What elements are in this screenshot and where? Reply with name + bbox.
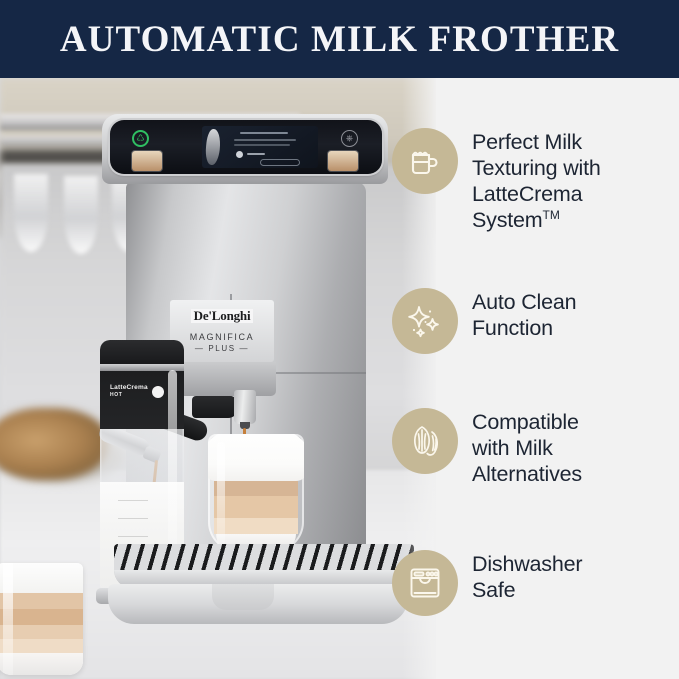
- brewing-cup: [208, 434, 304, 552]
- feature-text: Compatible with Milk Alternatives: [472, 408, 582, 487]
- dispenser-head: [170, 362, 276, 396]
- feature-line: LatteCrema: [472, 182, 582, 206]
- display-bullet-dot: [236, 151, 243, 158]
- display-text-line: [247, 153, 265, 155]
- cup-coffee-layer: [214, 496, 298, 518]
- carafe-label-main: LatteCrema: [110, 384, 148, 391]
- carafe-label-sub: HOT: [110, 392, 148, 398]
- leaf-eco-icon: ♺: [132, 130, 149, 147]
- header-banner: AUTOMATIC MILK FROTHER: [0, 0, 679, 78]
- feature-line: Alternatives: [472, 462, 582, 486]
- display-text-line: [234, 144, 290, 146]
- dishwasher-icon: [392, 550, 458, 616]
- carafe-dial-icon[interactable]: [152, 386, 164, 398]
- almonds-icon: [392, 408, 458, 474]
- product-photo: ♺ ⎈ De'Longhi MAGNIFICA — PLUS —: [0, 78, 436, 679]
- trademark-mark: TM: [542, 208, 559, 222]
- display-text-line: [234, 139, 296, 141]
- display-text-line: [240, 132, 288, 134]
- page-title: AUTOMATIC MILK FROTHER: [60, 21, 619, 58]
- background-wine-glass: [14, 174, 48, 252]
- latte-macchiato-glass: [0, 563, 83, 675]
- display-option-pill[interactable]: [260, 159, 300, 166]
- model-variant: — PLUS —: [195, 344, 249, 353]
- feature-line: Safe: [472, 578, 515, 602]
- milk-nozzle-housing: [192, 396, 238, 418]
- drip-tray-notch: [212, 584, 274, 610]
- feature-line: Compatible: [472, 410, 579, 434]
- drip-tray-grate: [114, 544, 414, 570]
- feature-text: Auto Clean Function: [472, 288, 576, 341]
- cup-coffee-layer: [214, 481, 298, 496]
- brand-plate: De'Longhi MAGNIFICA — PLUS —: [170, 300, 274, 362]
- feature-item-milk-texturing: Perfect Milk Texturing with LatteCrema S…: [392, 128, 601, 233]
- feature-text: Dishwasher Safe: [472, 550, 582, 603]
- model-name: MAGNIFICA: [190, 332, 254, 342]
- content-stage: ♺ ⎈ De'Longhi MAGNIFICA — PLUS —: [0, 78, 679, 679]
- milk-drink-button[interactable]: [132, 151, 162, 171]
- power-icon[interactable]: ⎈: [341, 130, 358, 147]
- feature-item-milk-alternatives: Compatible with Milk Alternatives: [392, 408, 582, 487]
- carafe-label: LatteCrema HOT: [110, 384, 148, 398]
- milk-frother-mug-icon: [392, 128, 458, 194]
- carafe-level-mark: [118, 518, 148, 519]
- coffee-machine: ♺ ⎈ De'Longhi MAGNIFICA — PLUS —: [74, 104, 394, 644]
- feature-item-dishwasher-safe: Dishwasher Safe: [392, 550, 582, 616]
- feature-line: with Milk: [472, 436, 553, 460]
- feature-item-auto-clean: Auto Clean Function: [392, 288, 576, 354]
- feature-line: Texturing with: [472, 156, 601, 180]
- brand-logo: De'Longhi: [191, 309, 254, 323]
- feature-line: System: [472, 208, 542, 232]
- feature-line: Function: [472, 316, 553, 340]
- carafe-level-mark: [118, 536, 148, 537]
- carafe-lid: [100, 340, 184, 366]
- machine-control-panel[interactable]: ♺ ⎈: [110, 120, 382, 174]
- carafe-level-mark: [118, 500, 148, 501]
- feature-line: Auto Clean: [472, 290, 576, 314]
- drip-tray: [114, 544, 414, 588]
- cup-coffee-layer: [214, 518, 298, 534]
- glass-highlight: [3, 563, 13, 675]
- feature-list: Perfect Milk Texturing with LatteCrema S…: [392, 78, 679, 679]
- feature-line: Perfect Milk: [472, 130, 582, 154]
- coffee-spout: [234, 390, 256, 424]
- sparkles-icon: [392, 288, 458, 354]
- feature-text: Perfect Milk Texturing with LatteCrema S…: [472, 128, 601, 233]
- coffee-drink-button[interactable]: [328, 151, 358, 171]
- glass-highlight: [217, 442, 225, 546]
- feature-line: Dishwasher: [472, 552, 582, 576]
